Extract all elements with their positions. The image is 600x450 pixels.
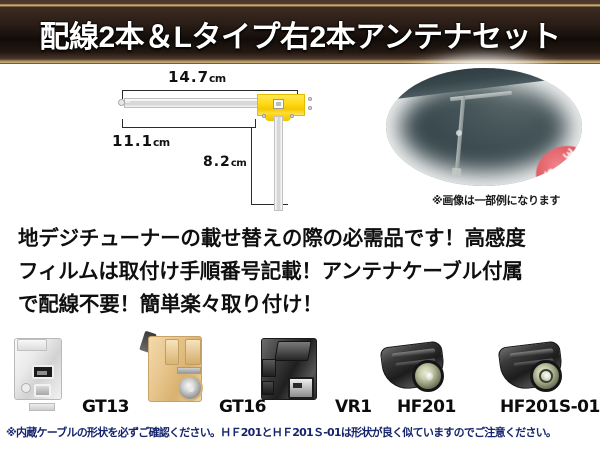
connector-label-hf201: HF201: [397, 397, 456, 417]
connector-label-hf201s01: HF201S-01: [500, 397, 600, 417]
installed-antenna-vertical-element: [455, 96, 466, 176]
dimension-value-total-width: 14.7: [168, 68, 209, 86]
hf201-coax-face: [412, 360, 444, 392]
antenna-film-horizontal-core: [130, 101, 260, 104]
connector-label-vr1: VR1: [335, 397, 372, 417]
gt16-coax-port: [177, 375, 203, 401]
gt13-signal-slot: [32, 365, 54, 379]
vr1-contact-port: [288, 377, 314, 399]
connector-item-gt13: [8, 330, 64, 418]
dimension-unit-element-width: cm: [153, 136, 170, 149]
description-line-2: フィルムは取付け手順番号記載！アンテナケーブル付属: [18, 255, 588, 288]
antenna-film-left-terminal-icon: [118, 99, 125, 106]
dimension-label-element-width: 11.1cm: [112, 132, 170, 150]
gt13-base: [29, 403, 55, 411]
gt16-connector-image: [148, 336, 202, 402]
gt13-cable-boot: [17, 339, 47, 351]
connector-item-gt16: [138, 330, 210, 418]
dimension-unit-element-height: cm: [231, 158, 246, 169]
dimension-bracket-element-width: [122, 119, 256, 128]
dimension-unit-total-width: cm: [209, 72, 226, 85]
vr1-side-panel-lower: [262, 381, 274, 395]
dimension-label-element-height: 8.2cm: [203, 154, 246, 170]
description-line-1: 地デジチューナーの載せ替えの際の必需品です！高感度: [18, 222, 588, 255]
footer-caution-note: ※内蔵ケーブルの形状を必ずご確認ください。ＨＦ201とＨＦ201Ｓ-01は形状が…: [6, 424, 600, 440]
inspection-sticker: 30 9: [536, 146, 582, 186]
vr1-connector-image: [261, 338, 317, 400]
antenna-film-pin-b-icon: [308, 106, 312, 110]
installed-antenna-horizontal-element: [450, 91, 512, 101]
page-title: 配線2本＆Lタイプ右2本アンテナセット: [0, 0, 600, 64]
sticker-text-bottom: 9: [540, 167, 557, 181]
vr1-fin: [274, 341, 312, 361]
antenna-film-pin-c-icon: [262, 114, 266, 118]
antenna-film-pin-a-icon: [308, 97, 312, 101]
gt13-latch-ring-icon: [21, 383, 31, 393]
gt13-connector-image: [14, 338, 62, 400]
dimension-value-element-width: 11.1: [112, 132, 153, 150]
hf201s01-coax-face: [530, 360, 562, 392]
header-banner: 配線2本＆Lタイプ右2本アンテナセット: [0, 0, 600, 64]
connector-item-vr1: [253, 330, 329, 418]
gt13-contact-slot: [34, 384, 51, 397]
gt16-fin-left: [165, 339, 179, 365]
windshield-photo-oval: 30 9: [386, 68, 582, 186]
gt16-latch-slot: [177, 367, 201, 374]
installation-photo: 30 9 ※画像は一部例になります: [368, 66, 600, 191]
antenna-dimension-diagram: 14.7cm 11.1cm 8.2cm: [0, 64, 330, 214]
antenna-film-contact-chip: [273, 99, 284, 109]
gt16-fin-right: [185, 339, 201, 365]
description-line-3: で配線不要！簡単楽々取り付け！: [18, 288, 588, 321]
installed-antenna-node-icon: [456, 130, 462, 136]
antenna-film-pin-d-icon: [290, 114, 294, 118]
vr1-side-panel-upper: [262, 359, 276, 377]
connector-label-gt13: GT13: [82, 397, 129, 417]
hf201-groove-upper: [391, 348, 435, 358]
connector-type-strip: GT13 GT16 VR1: [0, 330, 600, 418]
photo-caption: ※画像は一部例になります: [396, 192, 596, 208]
product-image-page: 配線2本＆Lタイプ右2本アンテナセット 14.7cm 11.1cm 8.2cm: [0, 0, 600, 450]
hf201s01-groove-upper: [509, 348, 553, 358]
antenna-film-vertical-core: [277, 120, 280, 210]
sticker-text-top: 30: [559, 146, 582, 169]
dimension-label-total-width: 14.7cm: [168, 68, 226, 86]
installed-antenna-foot-icon: [452, 168, 462, 177]
product-description: 地デジチューナーの載せ替えの際の必需品です！高感度 フィルムは取付け手順番号記載…: [18, 222, 588, 321]
dimension-value-element-height: 8.2: [203, 154, 231, 170]
